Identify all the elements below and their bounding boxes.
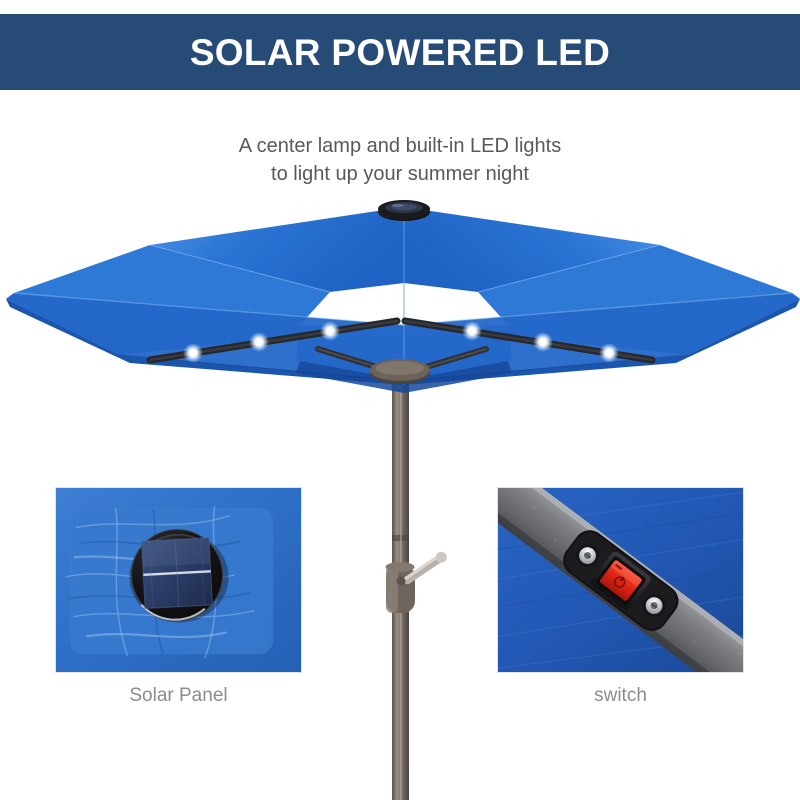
caption-solar-panel: Solar Panel [55,685,302,707]
subtitle-line-1: A center lamp and built-in LED lights [0,132,800,160]
top-solar-hub [378,200,430,221]
umbrella-runner [370,359,430,384]
subtitle-block: A center lamp and built-in LED lights to… [0,132,800,188]
caption-switch: switch [497,685,744,707]
page-title: SOLAR POWERED LED [190,34,610,71]
subtitle-line-2: to light up your summer night [0,160,800,188]
inset-solar-panel [55,487,302,673]
inset-switch [497,487,744,673]
solar-cell [142,538,213,609]
header-banner: SOLAR POWERED LED [0,14,800,90]
product-feature-image: SOLAR POWERED LED A center lamp and buil… [0,0,800,800]
